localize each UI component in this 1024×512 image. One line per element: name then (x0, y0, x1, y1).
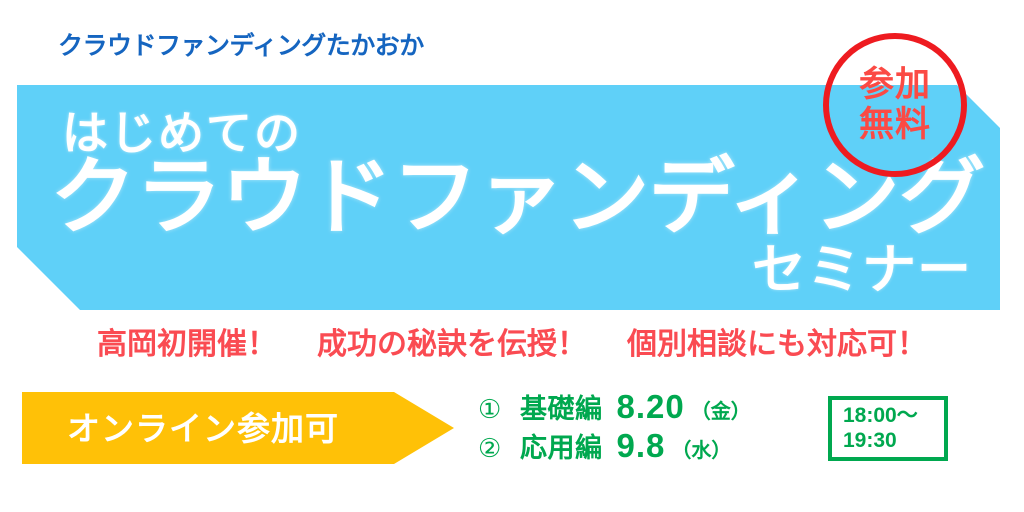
schedule-row: ① 基礎編 8.20 （金） (478, 390, 751, 423)
time-start: 18:00〜 (843, 404, 918, 429)
online-participation-arrow: オンライン参加可 (22, 392, 454, 464)
tagline-item-2: 成功の秘訣を伝授！ (317, 330, 587, 360)
schedule-day-of-week: （金） (691, 402, 751, 422)
organiser-name: クラウドファンディングたかおか (58, 34, 424, 59)
schedule-session-name: 応用編 (520, 435, 603, 462)
time-end: 19:30 (843, 429, 897, 454)
stamp-text: 参加 無料 (823, 33, 967, 177)
schedule-number-icon: ① (478, 396, 520, 422)
schedule-day-of-week: （水） (671, 441, 731, 461)
free-participation-stamp: 参加 無料 (823, 33, 967, 177)
schedule-row: ② 応用編 9.8 （水） (478, 429, 751, 462)
tagline-item-1: 高岡初開催！ (97, 330, 277, 360)
time-box: 18:00〜 19:30 (828, 396, 948, 461)
tagline-item-3: 個別相談にも対応可！ (627, 330, 927, 360)
schedule-number-icon: ② (478, 435, 520, 461)
stamp-line2: 無料 (859, 107, 931, 143)
online-participation-label: オンライン参加可 (67, 412, 339, 445)
schedule-date: 8.20 (617, 390, 685, 423)
tagline-row: 高岡初開催！ 成功の秘訣を伝授！ 個別相談にも対応可！ (0, 330, 1024, 360)
schedule-session-name: 基礎編 (520, 396, 603, 423)
schedule-date: 9.8 (617, 429, 666, 462)
schedule-list: ① 基礎編 8.20 （金） ② 応用編 9.8 （水） (478, 390, 751, 462)
stamp-line1: 参加 (859, 67, 931, 103)
seminar-poster: クラウドファンディングたかおか はじめての クラウドファンディング セミナー 参… (0, 0, 1024, 512)
banner-heading-line3: セミナー (752, 243, 972, 297)
